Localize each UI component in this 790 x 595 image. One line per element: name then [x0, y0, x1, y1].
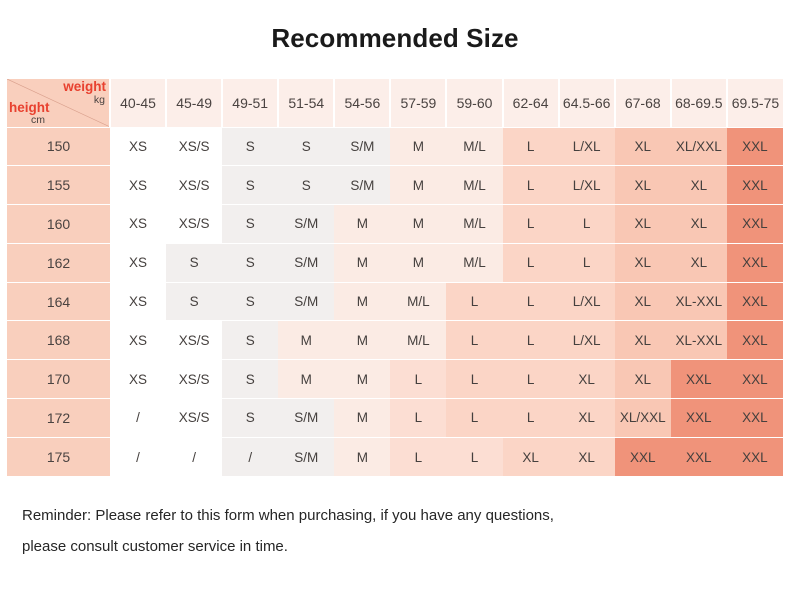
- weight-column-header: 57-59: [390, 79, 446, 127]
- size-cell: XS/S: [166, 166, 222, 205]
- size-cell: S: [222, 166, 278, 205]
- weight-column-header: 49-51: [222, 79, 278, 127]
- height-row-header: 150: [7, 127, 110, 166]
- height-row-header: 160: [7, 205, 110, 244]
- size-cell: L: [446, 321, 502, 360]
- table-row: 168XSXS/SSMMM/LLLL/XLXLXL-XXLXXL: [7, 321, 783, 360]
- size-cell: L/XL: [559, 321, 615, 360]
- size-cell: XL: [615, 360, 671, 399]
- size-cell: L: [503, 243, 559, 282]
- height-row-header: 172: [7, 399, 110, 438]
- height-row-header: 175: [7, 437, 110, 476]
- table-row: 175///S/MMLLXLXLXXLXXLXXL: [7, 437, 783, 476]
- weight-column-header: 67-68: [615, 79, 671, 127]
- size-cell: L: [390, 399, 446, 438]
- size-cell: M: [334, 282, 390, 321]
- table-row: 162XSSSS/MMMM/LLLXLXLXXL: [7, 243, 783, 282]
- size-cell: S: [222, 205, 278, 244]
- size-cell: L: [446, 399, 502, 438]
- size-cell: M: [334, 321, 390, 360]
- size-cell: XXL: [727, 243, 783, 282]
- size-cell: XS/S: [166, 321, 222, 360]
- size-cell: M: [390, 205, 446, 244]
- size-cell: M/L: [446, 166, 502, 205]
- size-cell: /: [222, 437, 278, 476]
- size-cell: XS: [110, 321, 166, 360]
- size-cell: S: [222, 321, 278, 360]
- size-cell: M: [390, 243, 446, 282]
- size-cell: XS/S: [166, 399, 222, 438]
- size-cell: XXL: [671, 437, 727, 476]
- size-cell: XL: [615, 321, 671, 360]
- size-cell: S/M: [278, 205, 334, 244]
- weight-column-header: 62-64: [503, 79, 559, 127]
- table-row: 172/XS/SSS/MMLLLXLXL/XXLXXLXXL: [7, 399, 783, 438]
- size-cell: L: [503, 166, 559, 205]
- size-cell: XL-XXL: [671, 282, 727, 321]
- size-cell: XS/S: [166, 360, 222, 399]
- weight-column-header: 45-49: [166, 79, 222, 127]
- size-cell: XL: [615, 243, 671, 282]
- axis-corner-cell: weight kg height cm: [7, 79, 110, 127]
- size-cell: M: [390, 127, 446, 166]
- size-cell: XXL: [727, 437, 783, 476]
- weight-column-header: 68-69.5: [671, 79, 727, 127]
- size-cell: XXL: [727, 127, 783, 166]
- size-cell: XXL: [727, 282, 783, 321]
- size-cell: S/M: [278, 399, 334, 438]
- size-cell: L: [390, 360, 446, 399]
- height-row-header: 162: [7, 243, 110, 282]
- size-cell: M: [334, 243, 390, 282]
- size-cell: XXL: [671, 399, 727, 438]
- size-cell: XXL: [727, 360, 783, 399]
- weight-column-header: 59-60: [446, 79, 502, 127]
- recommended-size-table: weight kg height cm 40-4545-4949-5151-54…: [7, 79, 783, 476]
- size-cell: S/M: [334, 127, 390, 166]
- size-cell: L/XL: [559, 282, 615, 321]
- size-cell: XS/S: [166, 127, 222, 166]
- size-cell: XL: [671, 166, 727, 205]
- size-cell: M/L: [446, 127, 502, 166]
- size-cell: XS: [110, 360, 166, 399]
- table-row: 155XSXS/SSSS/MMM/LLL/XLXLXLXXL: [7, 166, 783, 205]
- size-cell: XL/XXL: [671, 127, 727, 166]
- size-cell: XL: [615, 205, 671, 244]
- size-cell: M/L: [446, 243, 502, 282]
- weight-axis-label: weight: [63, 80, 106, 94]
- size-cell: S: [222, 360, 278, 399]
- size-cell: S: [222, 282, 278, 321]
- size-cell: XXL: [727, 399, 783, 438]
- size-cell: XS: [110, 205, 166, 244]
- size-cell: L/XL: [559, 166, 615, 205]
- size-cell: L: [559, 205, 615, 244]
- size-cell: L/XL: [559, 127, 615, 166]
- weight-column-header: 40-45: [110, 79, 166, 127]
- size-cell: M: [334, 360, 390, 399]
- weight-column-header: 69.5-75: [727, 79, 783, 127]
- reminder-line-2: please consult customer service in time.: [22, 531, 774, 562]
- size-cell: XL: [671, 205, 727, 244]
- size-cell: S/M: [278, 282, 334, 321]
- height-row-header: 170: [7, 360, 110, 399]
- size-cell: L: [503, 399, 559, 438]
- height-unit-label: cm: [31, 115, 45, 126]
- reminder-line-1: Reminder: Please refer to this form when…: [22, 500, 774, 531]
- size-cell: M: [278, 321, 334, 360]
- size-cell: S: [222, 243, 278, 282]
- size-cell: L: [446, 282, 502, 321]
- size-cell: M: [278, 360, 334, 399]
- size-cell: XXL: [615, 437, 671, 476]
- size-cell: S: [222, 127, 278, 166]
- size-cell: M: [390, 166, 446, 205]
- height-row-header: 155: [7, 166, 110, 205]
- page-title: Recommended Size: [0, 0, 790, 51]
- size-cell: L: [503, 321, 559, 360]
- size-cell: XS: [110, 282, 166, 321]
- size-cell: XS: [110, 166, 166, 205]
- weight-column-header: 54-56: [334, 79, 390, 127]
- size-cell: XXL: [727, 205, 783, 244]
- size-cell: XL-XXL: [671, 321, 727, 360]
- size-cell: XS: [110, 127, 166, 166]
- size-cell: M/L: [390, 321, 446, 360]
- size-cell: M: [334, 399, 390, 438]
- size-cell: M: [334, 437, 390, 476]
- size-chart-page: Recommended Size weight kg height cm 40-…: [0, 0, 790, 595]
- size-cell: S/M: [278, 243, 334, 282]
- size-cell: S: [222, 399, 278, 438]
- size-cell: XXL: [671, 360, 727, 399]
- height-row-header: 164: [7, 282, 110, 321]
- size-cell: S: [278, 127, 334, 166]
- table-row: 150XSXS/SSSS/MMM/LLL/XLXLXL/XXLXXL: [7, 127, 783, 166]
- weight-column-header: 51-54: [278, 79, 334, 127]
- size-cell: S/M: [278, 437, 334, 476]
- table-body: weight kg height cm 40-4545-4949-5151-54…: [7, 79, 783, 476]
- size-cell: L: [503, 127, 559, 166]
- size-cell: M: [334, 205, 390, 244]
- size-cell: L: [503, 360, 559, 399]
- size-cell: XL: [615, 282, 671, 321]
- size-cell: XL: [503, 437, 559, 476]
- table-row: 170XSXS/SSMMLLLXLXLXXLXXL: [7, 360, 783, 399]
- size-cell: XL: [559, 399, 615, 438]
- table-row: 160XSXS/SSS/MMMM/LLLXLXLXXL: [7, 205, 783, 244]
- size-cell: L: [503, 205, 559, 244]
- size-cell: XL/XXL: [615, 399, 671, 438]
- size-cell: L: [446, 437, 502, 476]
- table-row: 164XSSSS/MMM/LLLL/XLXLXL-XXLXXL: [7, 282, 783, 321]
- table-header-row: weight kg height cm 40-4545-4949-5151-54…: [7, 79, 783, 127]
- height-row-header: 168: [7, 321, 110, 360]
- size-table-container: weight kg height cm 40-4545-4949-5151-54…: [7, 79, 783, 476]
- size-cell: M/L: [446, 205, 502, 244]
- size-cell: XL: [559, 437, 615, 476]
- size-cell: XL: [559, 360, 615, 399]
- size-cell: XS: [110, 243, 166, 282]
- size-cell: /: [110, 437, 166, 476]
- weight-column-header: 64.5-66: [559, 79, 615, 127]
- size-cell: L: [446, 360, 502, 399]
- size-cell: L: [503, 282, 559, 321]
- size-cell: S: [166, 282, 222, 321]
- size-cell: XXL: [727, 166, 783, 205]
- size-cell: S: [278, 166, 334, 205]
- weight-unit-label: kg: [94, 95, 105, 106]
- size-cell: XL: [615, 166, 671, 205]
- size-cell: M/L: [390, 282, 446, 321]
- size-cell: XL: [615, 127, 671, 166]
- size-cell: XXL: [727, 321, 783, 360]
- size-cell: L: [559, 243, 615, 282]
- reminder-note: Reminder: Please refer to this form when…: [22, 500, 774, 562]
- size-cell: XS/S: [166, 205, 222, 244]
- size-cell: /: [110, 399, 166, 438]
- size-cell: XL: [671, 243, 727, 282]
- size-cell: /: [166, 437, 222, 476]
- size-cell: L: [390, 437, 446, 476]
- size-cell: S: [166, 243, 222, 282]
- size-cell: S/M: [334, 166, 390, 205]
